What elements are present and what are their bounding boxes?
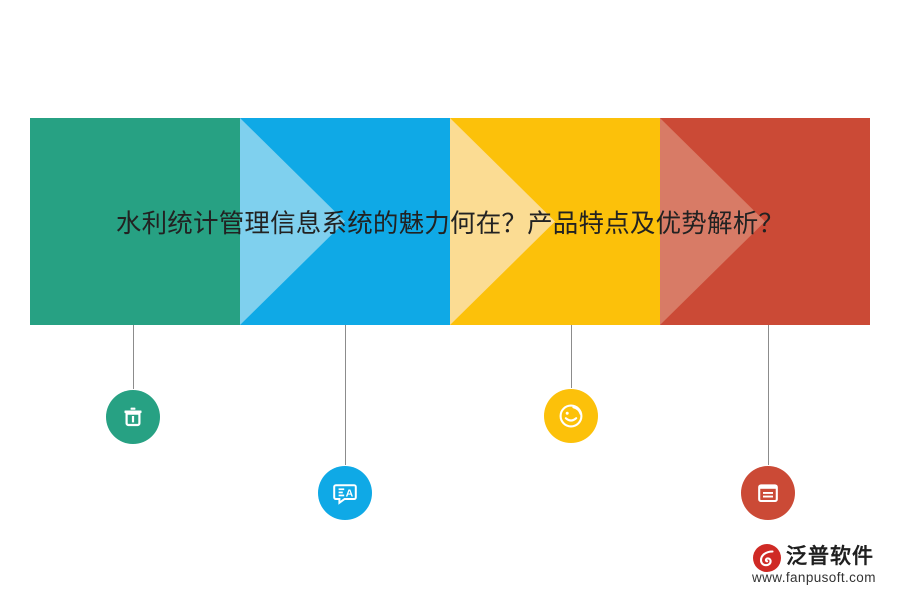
connector-line-2 [345,325,346,465]
calendar-note-icon [754,479,782,507]
brand-name: 泛普软件 [786,540,874,570]
brand-logo: 泛普软件 www.fanpusoft.com [752,540,884,588]
node-bubble-1[interactable] [106,390,160,444]
poster-canvas: 水利统计管理信息系统的魅力何在？产品特点及优势解析？ A [0,0,900,600]
connector-line-4 [768,325,769,465]
connector-line-1 [133,325,134,389]
trash-bin-icon [119,403,147,431]
node-bubble-4[interactable] [741,466,795,520]
node-bubble-3[interactable] [544,389,598,443]
connector-line-3 [571,325,572,388]
banner-title: 水利统计管理信息系统的魅力何在？产品特点及优势解析？ [30,118,870,325]
node-bubble-2[interactable]: A [318,466,372,520]
smiley-face-icon [556,401,586,431]
svg-text:A: A [346,487,354,499]
banner: 水利统计管理信息系统的魅力何在？产品特点及优势解析？ [30,118,870,325]
translate-chat-icon: A [331,479,359,507]
fanpu-logo-icon [752,543,782,573]
brand-url: www.fanpusoft.com [752,570,876,585]
